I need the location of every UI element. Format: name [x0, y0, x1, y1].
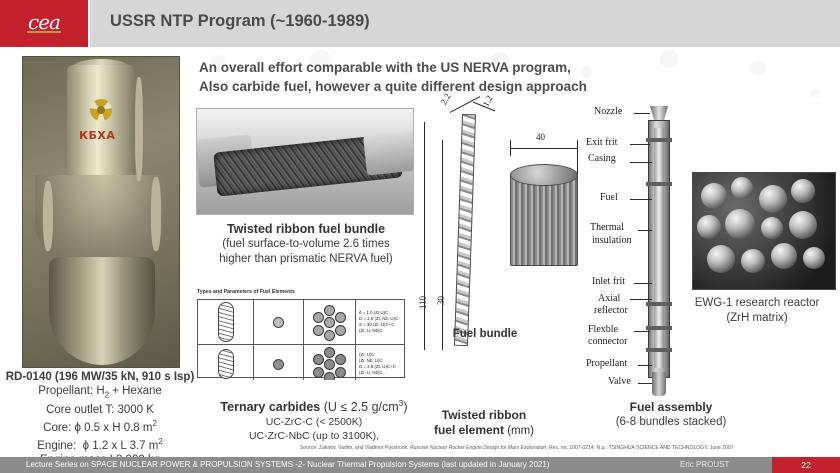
- label-thermal: Thermal: [590, 222, 624, 233]
- source-citation: Source: Zakirov, Vadim, and Vladimir Pav…: [300, 445, 838, 451]
- dim-line-30: [442, 140, 443, 350]
- ribbon-caption-unit: (mm): [504, 425, 534, 437]
- table-cell-params-1: δ = 1.0 (Zr,U)C D = 1.6 (Zr, Nb, U)C S =…: [356, 300, 404, 345]
- footer-author: Eric PROUST: [680, 460, 729, 469]
- assembly-band: [646, 326, 672, 330]
- cea-logo-text: cea: [28, 10, 60, 34]
- assembly-caption-title: Fuel assembly: [596, 400, 746, 415]
- dim-tick-right: [577, 140, 578, 174]
- source-prefix: Source: Zakirov, Vadim, and Vladimir Pav…: [300, 445, 410, 451]
- label-insulation: insulation: [592, 235, 631, 246]
- twisted-ribbon-technical-drawing: 110 30 2.2 1.2 40: [418, 100, 593, 400]
- ewg1-caption-line-1: EWG-1 research reactor: [674, 296, 840, 311]
- dim-tick-left: [510, 140, 511, 156]
- table-cell-section-2: [254, 345, 304, 380]
- dim-line-40: [510, 148, 578, 149]
- fuel-assembly-drawing: Nozzle Exit frit Casing Fuel Thermal ins…: [586, 104, 696, 400]
- bundle-sleeve-right: [363, 130, 414, 175]
- engine-core-dims: Core: ϕ 0.5 x H 0.8 m2: [2, 417, 198, 435]
- label-nozzle: Nozzle: [594, 106, 622, 117]
- dim-line-110: [424, 122, 425, 350]
- assembly-caption-sub: (6-8 bundles stacked): [596, 415, 746, 430]
- bundle-caption-line-2: higher than prismatic NERVA fuel): [196, 252, 416, 267]
- ewg1-caption: EWG-1 research reactor (ZrH matrix): [674, 296, 840, 325]
- table-cell-twist-2: [198, 345, 254, 380]
- label-casing: Casing: [588, 153, 616, 164]
- fuel-assembly-caption: Fuel assembly (6-8 bundles stacked): [596, 400, 746, 429]
- ribbon-caption-line-1: Twisted ribbon: [420, 408, 548, 423]
- ternary-title-line: Ternary carbides (U ≤ 2.5 g/cm3): [190, 396, 438, 415]
- engine-body: [67, 65, 135, 177]
- label-flexble: Flexble: [588, 324, 618, 335]
- table-cell-cluster-2: [304, 345, 356, 380]
- slide-subtitle: An overall effort comparable with the US…: [199, 58, 669, 96]
- assembly-band: [646, 302, 672, 306]
- radiation-symbol-core: [97, 106, 105, 114]
- slide-header: cea USSR NTP Program (~1960-1989): [0, 0, 840, 47]
- table-cell-cluster-1: [304, 300, 356, 345]
- assembly-valve-shape: [652, 372, 666, 396]
- footer-lecture-title: Lecture Series on SPACE NUCLEAR POWER & …: [26, 460, 549, 469]
- assembly-band: [646, 348, 672, 352]
- dim-label-30: 30: [436, 296, 446, 305]
- engine-caption: RD-0140 (196 MW/35 kN, 910 s Isp) Propel…: [2, 370, 198, 467]
- assembly-band: [646, 138, 672, 142]
- page-title: USSR NTP Program (~1960-1989): [110, 12, 370, 31]
- label-propellant: Propellant: [586, 358, 627, 369]
- label-exit-frit: Exit frit: [586, 137, 617, 148]
- bundle-caption-line-1: (fuel surface-to-volume 2.6 times: [196, 237, 416, 252]
- ewg1-caption-line-2: (ZrH matrix): [674, 311, 840, 326]
- cross-section-icon: [273, 359, 284, 370]
- dim-label-110: 110: [418, 296, 428, 309]
- fuel-bundle-label: Fuel bundle: [430, 328, 540, 340]
- fuel-bundle-top-face: [510, 164, 578, 186]
- cluster-icon: [313, 305, 347, 339]
- fuel-bundle-cylinder: [510, 174, 578, 266]
- fuel-element-types-table: Types and Parameters of Fuel Elements δ …: [196, 288, 408, 380]
- subtitle-line-2: Also carbide fuel, however a quite diffe…: [199, 77, 669, 96]
- label-reflector: reflector: [594, 305, 628, 316]
- engine-pipe: [151, 177, 161, 251]
- ribbon-caption-bold: fuel element: [434, 423, 504, 437]
- types-table-grid: δ = 1.0 (Zr,U)C D = 1.6 (Zr, Nb, U)C S =…: [197, 299, 405, 378]
- kbha-marking: КБХА: [79, 129, 115, 142]
- engine-core-temp: Core outlet T: 3000 K: [2, 403, 198, 417]
- label-connector: connector: [588, 336, 627, 347]
- label-axial: Axial: [598, 293, 620, 304]
- types-table-title: Types and Parameters of Fuel Elements: [196, 288, 408, 297]
- engine-caption-title: RD-0140 (196 MW/35 kN, 910 s Isp): [2, 370, 198, 384]
- ewg1-reactor-photo: [692, 172, 836, 290]
- source-title: Russian Nuclear Rocket Engine Design for…: [410, 445, 546, 451]
- cea-logo: cea: [0, 0, 88, 47]
- twisted-ribbon-caption: Twisted ribbon fuel element (mm): [420, 408, 548, 438]
- ribbon-caption-line-2: fuel element (mm): [420, 423, 548, 439]
- ternary-carbides-block: Ternary carbides (U ≤ 2.5 g/cm3) UC-ZrC-…: [190, 396, 438, 444]
- twisted-ribbon-icon: [218, 349, 234, 379]
- page-number: 22: [772, 457, 840, 473]
- engine-nozzle: [49, 257, 155, 365]
- rd0140-engine-photo: КБХА: [22, 56, 180, 368]
- param-row1-3: (Zr, U, Nb)C: [359, 328, 383, 334]
- slide-footer: Lecture Series on SPACE NUCLEAR POWER & …: [0, 457, 840, 473]
- ternary-formula: (U ≤ 2.5 g/cm3): [324, 400, 408, 414]
- engine-dims: Engine: ϕ 1.2 x L 3.7 m2: [2, 435, 198, 453]
- label-inlet-frit: Inlet frit: [592, 276, 625, 287]
- subtitle-line-1: An overall effort comparable with the US…: [199, 58, 669, 77]
- header-divider: [88, 0, 90, 47]
- table-cell-section-1: [254, 300, 304, 345]
- ribbon-element-shape: [454, 114, 476, 346]
- bundle-caption: Twisted ribbon fuel bundle (fuel surface…: [196, 222, 416, 267]
- engine-pipe: [135, 77, 143, 181]
- label-fuel: Fuel: [600, 192, 618, 203]
- dim-line-2-2: [450, 96, 480, 113]
- table-cell-params-2: (Zr, U)C (Zr, Nb, U)C D = 2.8 (Zr, U)C+C…: [356, 345, 404, 380]
- label-valve: Valve: [608, 376, 631, 387]
- ternary-line-2: UC-ZrC-C (< 2500K): [190, 415, 438, 430]
- engine-propellant: Propellant: H2 + Hexane: [2, 384, 198, 403]
- param-row2-3: (Zr, U, Nb)C: [359, 370, 383, 376]
- cea-logo-underline: [27, 31, 61, 33]
- bundle-caption-title: Twisted ribbon fuel bundle: [196, 222, 416, 237]
- assembly-band: [646, 182, 672, 186]
- twisted-ribbon-icon: [218, 302, 234, 342]
- ternary-line-3: UC-ZrC-NbC (up to 3100K),: [190, 429, 438, 444]
- table-cell-twist-1: [198, 300, 254, 345]
- dim-label-40: 40: [536, 132, 545, 142]
- twisted-ribbon-bundle-photo: [196, 108, 414, 215]
- source-suffix: . Res. no. 1007-0214. N.p.: TSINGHUA SCI…: [546, 445, 733, 451]
- cluster-icon: [313, 347, 347, 380]
- engine-pipe: [43, 181, 53, 251]
- ternary-title: Ternary carbides: [220, 400, 320, 414]
- cross-section-icon: [273, 317, 284, 328]
- assembly-inner-channel: [654, 128, 664, 368]
